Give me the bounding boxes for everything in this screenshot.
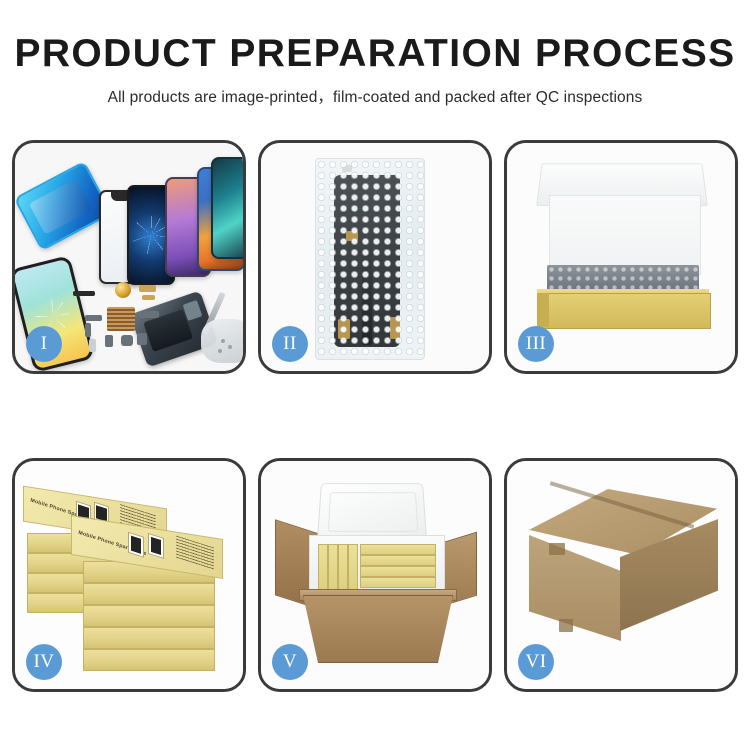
process-step-grid: I II [12,140,738,692]
step-badge-4: IV [26,644,62,680]
packed-box-6 [360,555,436,566]
foam-box-body [309,535,445,597]
packed-box-5 [360,544,436,555]
screw-part-a [221,339,225,343]
process-step-panel-2[interactable]: II [258,140,492,374]
packed-box-8 [360,577,436,588]
bubble-texture [316,159,424,359]
carton-body [303,595,453,663]
page-subtitle: All products are image-printed，film-coat… [0,85,750,107]
retail-lid-phone-a2 [128,532,144,558]
bracket-part-b [85,323,91,337]
screw-part-b [228,345,232,349]
page-header: PRODUCT PREPARATION PROCESS All products… [0,0,750,107]
phone-screen-teal [211,157,243,259]
carton-tape-lower [559,619,573,632]
page-title: PRODUCT PREPARATION PROCESS [0,34,750,75]
step-badge-1: I [26,326,62,362]
step-badge-3: III [518,326,554,362]
retail-lid-phone-b2 [148,533,164,559]
packed-box-7 [360,566,436,577]
step-badge-2: II [272,326,308,362]
inner-box-side [537,293,549,327]
speaker-part [73,291,95,296]
carton-tape-upper [549,543,565,555]
packed-box-1 [318,544,328,590]
step-badge-6: VI [518,644,554,680]
bracket-part-a [85,315,102,321]
packed-box-3 [338,544,348,590]
process-step-panel-3[interactable]: III [504,140,738,374]
foam-sheet-white [549,195,701,275]
process-step-panel-6[interactable]: VI [504,458,738,692]
product-preparation-page: PRODUCT PREPARATION PROCESS All products… [0,0,750,750]
inner-box-front [537,293,711,329]
screw-part-c [218,349,222,353]
retail-lid-speclines-2 [176,536,214,570]
process-step-panel-1[interactable]: I [12,140,246,374]
camera-module-part [121,335,133,346]
copper-coil-part [115,282,131,298]
battery-connector-part [89,339,96,352]
packed-box-2 [328,544,338,590]
retail-box-r4 [83,627,215,649]
flex-cable-part-a [139,285,156,292]
foam-box-lid [317,483,427,541]
bracket-part-c [139,311,159,318]
chip-array-part [107,307,135,331]
bubble-wrap-sleeve [315,158,425,360]
process-step-panel-5[interactable]: V [258,458,492,692]
step-badge-5: V [272,644,308,680]
flex-cable-part-b [142,295,155,300]
packed-box-4 [348,544,358,590]
retail-box-r5 [83,649,215,671]
process-step-panel-4[interactable]: Mobile Phone Spare Parts Mobile Phone Sp… [12,458,246,692]
retail-box-r2 [83,583,215,605]
sim-tray-part [137,333,147,345]
retail-box-r3 [83,605,215,627]
button-part [105,335,113,347]
